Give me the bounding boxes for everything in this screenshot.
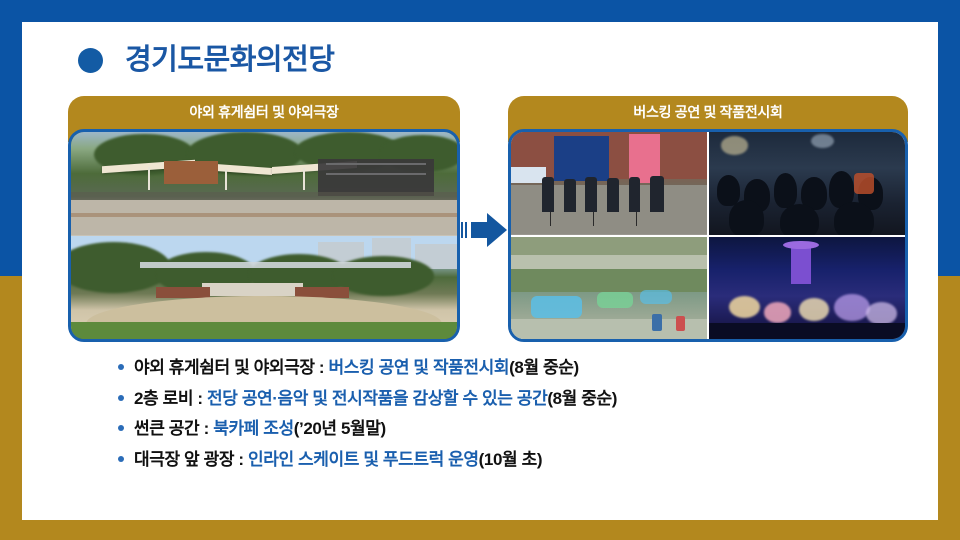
list-item-value: 북카페 조성 [213,419,294,438]
bullet-dot-icon [118,395,124,401]
panel-header-right-text: 버스킹 공연 및 작품전시회 [633,102,782,122]
photo-outdoor-theater [71,236,457,340]
list-item: 2층 로비 : 전당 공연·음악 및 전시작품을 감상할 수 있는 공간(8월 … [118,389,878,409]
photo-outdoor-rest-shelter [71,132,457,236]
filled-circle-icon [78,48,103,73]
list-item: 썬큰 공간 : 북카페 조성(’20년 5월말) [118,419,878,439]
photo-outdoor-sculpture-exhibit [511,237,707,340]
list-item-text: 야외 휴게쉼터 및 야외극장 : 버스킹 공연 및 작품전시회(8월 중순) [134,358,579,378]
page-title: 경기도문화의전당 [78,46,334,75]
list-item-date: (’20년 5월말) [294,419,386,438]
left-accent-band-blue [0,0,22,276]
list-item-date: (8월 중순) [547,389,617,408]
bullet-dot-icon [118,425,124,431]
list-item-value: 전당 공연·음악 및 전시작품을 감상할 수 있는 공간 [207,389,547,408]
arrow-right-icon [461,213,507,247]
panel-busking-exhibition: 버스킹 공연 및 작품전시회 [508,96,908,342]
list-item: 야외 휴게쉼터 및 야외극장 : 버스킹 공연 및 작품전시회(8월 중순) [118,358,878,378]
bullet-dot-icon [118,364,124,370]
list-item-value: 버스킹 공연 및 작품전시회 [329,358,510,377]
panel-header-left-text: 야외 휴게쉼터 및 야외극장 [189,102,338,122]
left-accent-band-gold [0,276,22,540]
photo-night-light-exhibit [709,237,905,340]
right-accent-band-blue [938,0,960,276]
list-item-text: 썬큰 공간 : 북카페 조성(’20년 5월말) [134,419,386,439]
top-accent-band [0,0,960,22]
list-item-value: 인라인 스케이트 및 푸드트럭 운영 [248,450,479,469]
list-item-label: 야외 휴게쉼터 및 야외극장 : [134,358,329,377]
photo-night-crowd [709,132,905,235]
detail-list: 야외 휴게쉼터 및 야외극장 : 버스킹 공연 및 작품전시회(8월 중순) 2… [118,358,878,480]
page-title-text: 경기도문화의전당 [125,46,334,75]
list-item-date: (8월 중순) [509,358,579,377]
slide-root: 경기도문화의전당 야외 휴게쉼터 및 야외극장 [0,0,960,540]
right-accent-band-gold [938,276,960,540]
panel-left-photo-stack [68,129,460,342]
photo-busking-stage [511,132,707,235]
list-item-label: 2층 로비 : [134,389,207,408]
panel-outdoor-rest-area: 야외 휴게쉼터 및 야외극장 [68,96,460,342]
list-item-text: 2층 로비 : 전당 공연·음악 및 전시작품을 감상할 수 있는 공간(8월 … [134,389,617,409]
list-item-date: (10월 초) [479,450,542,469]
list-item-text: 대극장 앞 광장 : 인라인 스케이트 및 푸드트럭 운영(10월 초) [134,450,542,470]
list-item: 대극장 앞 광장 : 인라인 스케이트 및 푸드트럭 운영(10월 초) [118,450,878,470]
panel-right-photo-grid [508,129,908,342]
bottom-accent-band [0,520,960,540]
list-item-label: 썬큰 공간 : [134,419,213,438]
bullet-dot-icon [118,456,124,462]
list-item-label: 대극장 앞 광장 : [134,450,248,469]
